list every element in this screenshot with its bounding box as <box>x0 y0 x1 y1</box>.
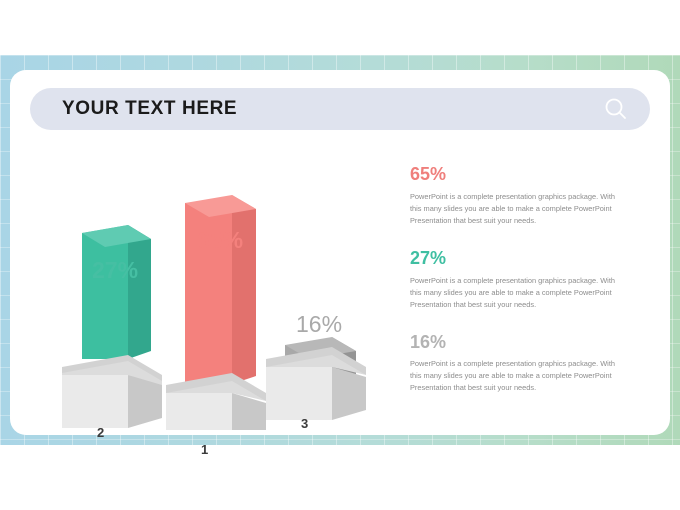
block-body-16: PowerPoint is a complete presentation gr… <box>410 358 625 394</box>
block-body-65: PowerPoint is a complete presentation gr… <box>410 191 625 227</box>
value-label-rank-3: 16% <box>296 311 342 338</box>
value-label-rank-1: 65% <box>197 227 243 254</box>
bar-rank-2[interactable] <box>82 225 151 361</box>
rank-label-3: 3 <box>301 416 308 431</box>
search-icon[interactable] <box>602 95 630 123</box>
block-heading-16: 16% <box>410 333 625 353</box>
podium-rank-1 <box>166 373 266 430</box>
block-heading-27: 27% <box>410 249 625 269</box>
slide-card: YOUR TEXT HERE <box>10 70 670 435</box>
text-block-65: 65% PowerPoint is a complete presentatio… <box>410 165 625 227</box>
text-block-27: 27% PowerPoint is a complete presentatio… <box>410 249 625 311</box>
rank-label-2: 2 <box>97 425 104 440</box>
description-column: 65% PowerPoint is a complete presentatio… <box>410 165 625 416</box>
page-title: YOUR TEXT HERE <box>62 98 237 120</box>
search-bar[interactable]: YOUR TEXT HERE <box>30 88 650 130</box>
podium-chart: 27% 65% 16% 2 1 3 <box>20 145 390 425</box>
rank-label-1: 1 <box>201 442 208 457</box>
block-body-27: PowerPoint is a complete presentation gr… <box>410 275 625 311</box>
podium-rank-2 <box>62 355 162 428</box>
text-block-16: 16% PowerPoint is a complete presentatio… <box>410 333 625 395</box>
bar-rank-1[interactable] <box>185 195 256 384</box>
block-heading-65: 65% <box>410 165 625 185</box>
value-label-rank-2: 27% <box>92 257 138 284</box>
chart-svg <box>20 145 390 430</box>
